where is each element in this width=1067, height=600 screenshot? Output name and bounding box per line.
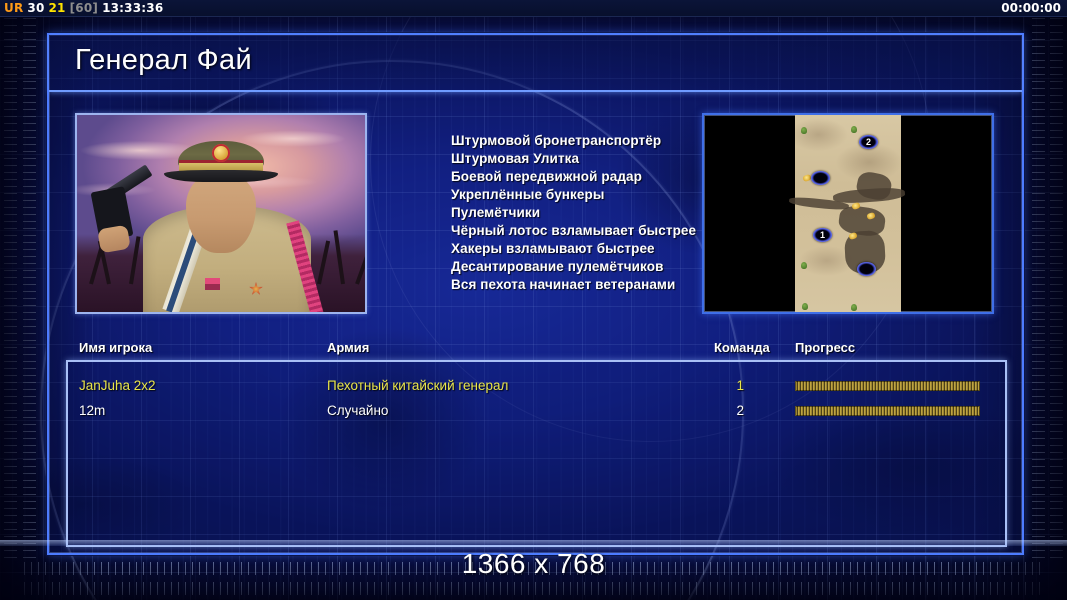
- performance-readout: UR3021[60]13:33:36: [4, 0, 167, 17]
- map-start-position: 1: [813, 228, 832, 242]
- fps-value: 30: [27, 1, 44, 15]
- fps-max-value: [60]: [70, 1, 98, 15]
- system-clock: 13:33:36: [102, 1, 163, 15]
- general-portrait: [75, 113, 367, 314]
- player-progress: [795, 406, 980, 416]
- player-progress: [795, 381, 980, 391]
- session-timer: 00:00:00: [1001, 0, 1061, 17]
- map-start-label: 2: [859, 135, 878, 149]
- table-row[interactable]: 12m Случайно 2: [68, 399, 1005, 423]
- lobby-window: Генерал Фай: [47, 33, 1024, 555]
- map-tree-icon: [851, 126, 857, 133]
- page-title: Генерал Фай: [75, 44, 252, 77]
- ur-label: UR: [4, 1, 23, 15]
- game-lobby-screen: UR3021[60]13:33:36 00:00:00 Генерал Фай: [0, 0, 1067, 600]
- portrait-medal: [205, 278, 220, 290]
- top-status-bar: UR3021[60]13:33:36 00:00:00: [0, 0, 1067, 17]
- map-start-label: 1: [813, 228, 832, 242]
- table-row[interactable]: JanJuha 2x2 Пехотный китайский генерал 1: [68, 374, 1005, 398]
- portrait-star-emblem: [249, 282, 263, 296]
- map-tree-icon: [801, 127, 807, 134]
- player-team: 2: [694, 399, 744, 423]
- window-header: Генерал Фай: [49, 35, 1022, 92]
- resolution-overlay: 1366 x 768: [0, 548, 1067, 580]
- player-table-header: Имя игрока Армия Команда Прогресс: [66, 340, 1003, 358]
- cap-badge-icon: [212, 144, 230, 162]
- column-header-progress: Прогресс: [795, 340, 855, 355]
- player-name: 12m: [79, 399, 105, 423]
- general-info-row: Штурмовой бронетранспортёр Штурмовая Ули…: [66, 105, 1003, 318]
- map-start-position: [811, 171, 830, 185]
- fps-alt-value: 21: [49, 1, 66, 15]
- column-header-player-name: Имя игрока: [79, 340, 152, 355]
- player-name: JanJuha 2x2: [79, 374, 156, 398]
- map-terrain: 2 1: [795, 115, 901, 312]
- cap-brim: [164, 170, 278, 182]
- map-preview[interactable]: 2 1: [702, 113, 994, 314]
- map-start-position: 2: [859, 135, 878, 149]
- portrait-cap: [164, 141, 278, 183]
- progress-bar-fill: [795, 381, 980, 391]
- column-header-army: Армия: [327, 340, 369, 355]
- map-tree-icon: [801, 262, 807, 269]
- player-army: Случайно: [327, 399, 388, 423]
- player-army: Пехотный китайский генерал: [327, 374, 508, 398]
- player-team: 1: [694, 374, 744, 398]
- column-header-team: Команда: [714, 340, 770, 355]
- portrait-face: [186, 171, 256, 253]
- bottom-highlight-band: [0, 540, 1067, 546]
- map-start-position: [857, 262, 876, 276]
- map-tree-icon: [802, 303, 808, 310]
- progress-bar-fill: [795, 406, 980, 416]
- player-table-body: JanJuha 2x2 Пехотный китайский генерал 1…: [66, 360, 1007, 547]
- map-tree-icon: [851, 304, 857, 311]
